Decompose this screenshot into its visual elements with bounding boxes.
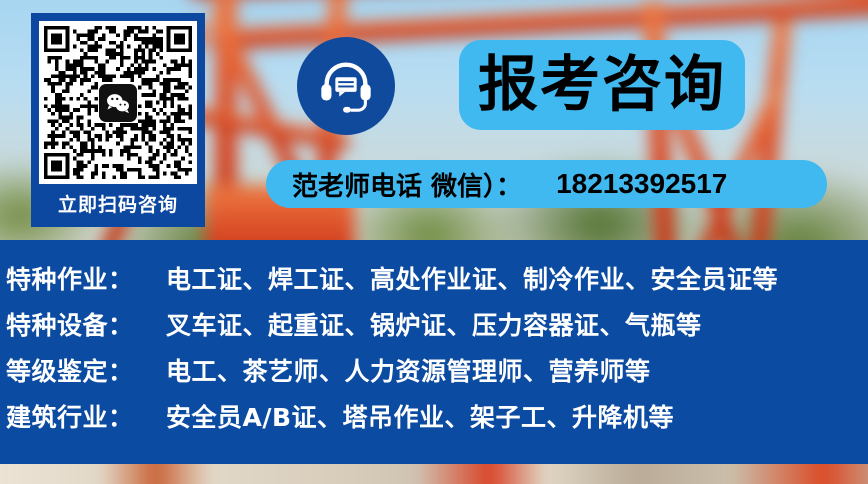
title-banner: 报考咨询 [459, 40, 745, 130]
bottom-photo-strip [0, 464, 868, 484]
headset-chat-icon [297, 37, 395, 135]
qr-code-area[interactable] [39, 21, 197, 184]
page-title: 报考咨询 [478, 55, 726, 115]
category-items: 电工、茶艺师、人力资源管理师、营养师等 [166, 352, 651, 388]
category-name: 特种作业： [6, 260, 166, 296]
contact-phone-number[interactable]: 18213392517 [556, 168, 727, 200]
category-name: 等级鉴定： [6, 352, 166, 388]
promo-poster: 立即扫码咨询 报考咨询 范老师电话 微信）： 18213392517 特种作业：… [0, 0, 868, 484]
qr-card[interactable]: 立即扫码咨询 [31, 13, 205, 227]
category-name: 特种设备： [6, 306, 166, 342]
list-item: 建筑行业： 安全员A/B证、塔吊作业、架子工、升降机等 [6, 398, 868, 444]
contact-banner[interactable]: 范老师电话 微信）： 18213392517 [266, 160, 827, 208]
list-item: 特种作业： 电工证、焊工证、高处作业证、制冷作业、安全员证等 [6, 260, 868, 306]
category-items: 安全员A/B证、塔吊作业、架子工、升降机等 [166, 398, 674, 434]
contact-label: 范老师电话 微信）： [292, 166, 522, 203]
service-list-panel: 特种作业： 电工证、焊工证、高处作业证、制冷作业、安全员证等 特种设备： 叉车证… [0, 240, 868, 464]
qr-code-matrix[interactable] [44, 26, 192, 179]
bottom-photo-blur [0, 464, 868, 484]
category-items: 叉车证、起重证、锅炉证、压力容器证、气瓶等 [166, 306, 702, 342]
list-item: 特种设备： 叉车证、起重证、锅炉证、压力容器证、气瓶等 [6, 306, 868, 352]
list-item: 等级鉴定： 电工、茶艺师、人力资源管理师、营养师等 [6, 352, 868, 398]
category-name: 建筑行业： [6, 398, 166, 434]
category-items: 电工证、焊工证、高处作业证、制冷作业、安全员证等 [166, 260, 778, 296]
wechat-icon [99, 84, 137, 122]
qr-caption: 立即扫码咨询 [39, 184, 197, 226]
